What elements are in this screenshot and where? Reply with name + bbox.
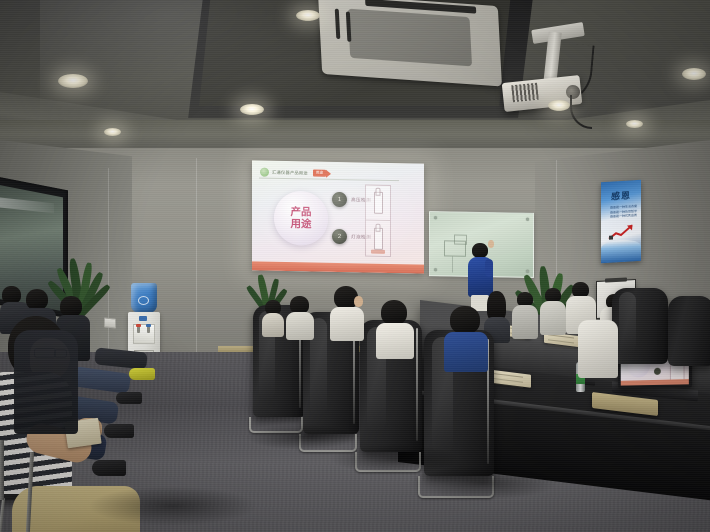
- attendee-torso-white: [578, 320, 618, 378]
- attendee-shoulder-dark: [14, 330, 78, 434]
- whiteboard-stud: [526, 218, 529, 221]
- attendee-back-3: [512, 292, 538, 338]
- product-device-icon: [374, 192, 383, 214]
- slide-circle-line1: 产品: [291, 206, 312, 218]
- slide-product-panel: [365, 185, 391, 257]
- slide-bullet-number: 2: [332, 229, 347, 244]
- notebook-lines: [548, 335, 573, 339]
- notebook-lines: [492, 373, 523, 378]
- poster-wave-graphic: [601, 239, 641, 263]
- attendee-hand: [354, 296, 363, 307]
- ac-center-panel: [347, 8, 472, 66]
- attendee-mid-2: [330, 286, 364, 338]
- downlight-icon: [682, 68, 706, 80]
- floor-shadow: [88, 486, 258, 526]
- slide-logo-icon: [260, 168, 269, 177]
- poster-body-text: 感恩是一种生活态度 感恩是一种处世哲学 感恩是一种优秀品质: [610, 204, 637, 219]
- attendee-mid-4: [444, 306, 488, 368]
- hot-tap-icon[interactable]: [137, 326, 140, 333]
- water-bottle-top: [131, 283, 157, 313]
- wall-seam: [196, 158, 197, 354]
- chair-backrest: [668, 296, 710, 366]
- attendee-left-seated-2: [14, 330, 78, 440]
- ceiling-ac-unit: [318, 0, 502, 87]
- downlight-icon: [548, 100, 570, 111]
- floor-shadow: [408, 466, 558, 500]
- attendee-torso-white: [376, 323, 414, 359]
- slide-header-tag: 用途: [313, 170, 326, 177]
- slide-header-text: 汇通仪器产品用途: [272, 169, 308, 176]
- attendee-head: [381, 300, 407, 325]
- downlight-icon: [240, 104, 264, 115]
- presenter-arm: [485, 259, 493, 277]
- slide-product-cell: [366, 221, 390, 256]
- product-device-icon: [374, 227, 383, 249]
- attendee-head: [450, 306, 480, 334]
- chair[interactable]: [668, 296, 710, 366]
- attendee-mid-3: [376, 300, 414, 356]
- slide-bullet-number: 1: [332, 192, 347, 207]
- dispenser-brand-badge: [139, 316, 147, 321]
- presenter-head: [472, 243, 488, 258]
- attendee-mid-5: [262, 300, 284, 334]
- chair-frame-bar: [0, 440, 4, 500]
- poster-title: 感恩: [601, 188, 641, 203]
- whiteboard-stud: [434, 268, 437, 271]
- easel-clip: [605, 277, 627, 282]
- downlight-icon: [58, 74, 88, 88]
- attendee-torso-light: [286, 312, 314, 340]
- floor-shadow: [246, 424, 356, 450]
- attendee-back-2: [540, 288, 566, 334]
- attendee-right-white-shirt: [578, 320, 618, 380]
- cold-tap-button[interactable]: [146, 324, 151, 327]
- laptop-slide-bar: [621, 379, 689, 386]
- attendee-torso-white: [330, 307, 364, 341]
- rising-arrow-chart-icon: [608, 223, 634, 241]
- attendee-torso-light-shirt: [540, 301, 566, 335]
- whiteboard-stud: [434, 216, 437, 219]
- slide-circle-line2: 用途: [291, 218, 312, 230]
- downlight-icon: [296, 10, 320, 21]
- downlight-icon: [104, 128, 121, 136]
- chair[interactable]: [612, 288, 668, 364]
- projection-screen: 汇通仪器产品用途 用途 产品 用途 1 高压检测 2 灯泡检测: [252, 160, 424, 273]
- meeting-room-photo: 汇通仪器产品用途 用途 产品 用途 1 高压检测 2 灯泡检测: [0, 0, 710, 532]
- attendee-torso-grey-shirt: [512, 305, 538, 339]
- chair-highlight: [619, 292, 636, 353]
- slide-product-cell: [366, 186, 390, 221]
- attendee-head: [26, 289, 48, 310]
- attendee-mid-1: [286, 296, 314, 336]
- presentation-slide: 汇通仪器产品用途 用途 产品 用途 1 高压检测 2 灯泡检测: [252, 160, 424, 273]
- attendee-torso-blue: [444, 332, 488, 372]
- hot-tap-button[interactable]: [136, 324, 141, 327]
- slide-main-circle: 产品 用途: [274, 191, 328, 246]
- downlight-icon: [626, 120, 643, 128]
- cold-tap-icon[interactable]: [147, 326, 150, 333]
- water-bottle-label-icon: [138, 296, 149, 305]
- projector-vent-grill: [511, 83, 539, 103]
- product-base-icon: [371, 250, 385, 254]
- whiteboard-sketch-line: [452, 256, 453, 272]
- motivational-poster: 感恩 感恩是一种生活态度 感恩是一种处世哲学 感恩是一种优秀品质: [601, 180, 641, 263]
- attendee-torso-light: [262, 313, 284, 337]
- chair-piping: [416, 328, 418, 442]
- laptop-slide-dot: [654, 368, 661, 375]
- attendee-head: [60, 296, 82, 317]
- presenter-hand: [488, 240, 494, 248]
